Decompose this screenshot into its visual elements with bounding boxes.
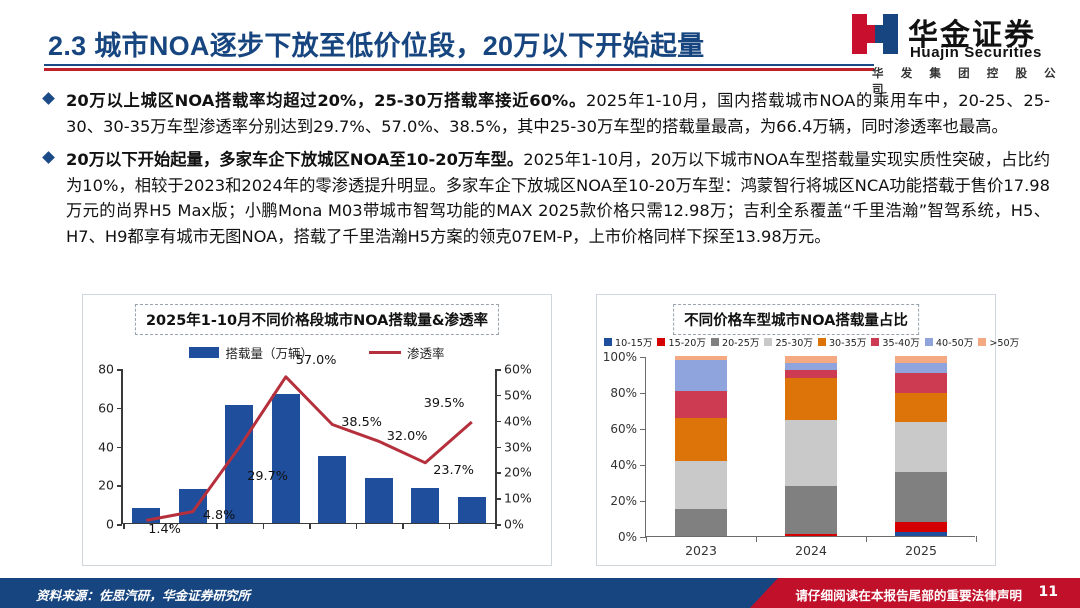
data-label: 23.7% [433,463,474,478]
data-label: 1.4% [148,522,181,537]
stack-segment [785,363,837,370]
y-axis-label: 20 [98,478,114,493]
title-rule-red [44,68,874,71]
legend-swatch-line-icon [369,351,401,355]
stack-segment [785,534,837,536]
y-axis-tick [117,485,122,487]
y-axis-tick-right [496,447,501,449]
y-axis-tick [640,429,646,430]
y-axis-label: 0% [618,530,637,544]
y-axis-label-right: 0% [504,517,524,532]
legend-label: 20-25万 [722,335,759,349]
penetration-rate-line [123,369,495,524]
data-label: 57.0% [296,353,337,368]
stack-segment [895,422,947,472]
x-axis-tick [756,536,757,542]
chart-right-title: 不同价格车型城市NOA搭载量占比 [673,304,919,335]
bullet-list: 20万以上城区NOA搭载率均超过20%，25-30万搭载率接近60%。2025年… [40,88,1050,257]
legend-label: 30-35万 [829,335,866,349]
logo-english-name: Huajin Securities [910,44,1042,61]
stack-segment [675,391,727,418]
legend-swatch-icon [871,338,879,346]
legend-swatch-icon [711,338,719,346]
x-axis-label: 2025 [905,543,937,558]
y-axis-tick [117,408,122,410]
legend-label: 35-40万 [882,335,919,349]
footer-source: 资料来源：佐思汽研，华金证券研究所 [36,585,250,604]
x-axis-tick [866,536,867,542]
y-axis-label: 40% [610,458,637,472]
data-label: 29.7% [247,469,288,484]
slide: 2.3 城市NOA逐步下放至低价位段，20万以下开始起量 华金证券 Huajin… [0,0,1080,608]
y-axis-tick [640,357,646,358]
stacked-bar [785,356,837,536]
legend-swatch-icon [818,338,826,346]
legend-item: 15-20万 [657,335,705,349]
stacked-bar [675,356,727,536]
data-label: 32.0% [387,429,428,444]
stacked-bar [895,356,947,536]
y-axis-label: 60% [610,422,637,436]
legend-swatch-icon [925,338,933,346]
data-label: 38.5% [341,415,382,430]
legend-label: 25-30万 [775,335,812,349]
legend-swatch-icon [764,338,772,346]
stack-segment [675,509,727,536]
y-axis-tick [640,393,646,394]
data-label: 4.8% [203,508,236,523]
x-axis-label: 2024 [795,543,827,558]
y-axis-label-right: 20% [504,465,532,480]
legend-item: 25-30万 [764,335,812,349]
stack-segment [895,373,947,393]
y-axis-tick-right [496,472,501,474]
stack-segment [895,522,947,532]
y-axis-label-right: 10% [504,491,532,506]
chart-left-plot-area: 0204060800%10%20%30%40%50%60%10-15万15-20… [123,369,495,524]
x-axis-tick [976,536,977,542]
y-axis-tick-right [496,498,501,500]
footer-legal-note: 请仔细阅读在本报告尾部的重要法律声明 [795,585,1022,604]
y-axis-tick [117,447,122,449]
y-axis-label: 20% [610,494,637,508]
x-axis-tick [495,523,497,529]
y-axis-tick [117,524,122,526]
y-axis-label: 80 [98,362,114,377]
y-axis-label: 60 [98,400,114,415]
stack-segment [785,370,837,378]
y-axis-label: 0 [106,517,114,532]
stack-segment [675,360,727,392]
legend-item: 40-50万 [925,335,973,349]
slide-header: 2.3 城市NOA逐步下放至低价位段，20万以下开始起量 华金证券 Huajin… [0,0,1080,86]
stack-segment [895,393,947,423]
x-axis-tick [646,536,647,542]
x-axis-label: 2023 [685,543,717,558]
legend-swatch-icon [604,338,612,346]
y-axis-label: 80% [610,386,637,400]
stack-segment [785,356,837,363]
y-axis-tick-right [496,369,501,371]
bullet-1-lead: 20万以上城区NOA搭载率均超过20%，25-30万搭载率接近60%。 [66,91,586,110]
stack-segment [785,486,837,534]
y-axis-tick [640,501,646,502]
chart-right-legend: 10-15万15-20万20-25万25-30万30-35万35-40万40-5… [604,335,990,349]
legend-item: 30-35万 [818,335,866,349]
y-axis-label: 40 [98,439,114,454]
y-axis-label-right: 40% [504,413,532,428]
y-axis-label-right: 30% [504,439,532,454]
legend-item-line: 渗透率 [369,343,445,362]
legend-item: 10-15万 [604,335,652,349]
y-axis-label: 100% [603,350,637,364]
bullet-item-2: 20万以下开始起量，多家车企下放城区NOA至10-20万车型。2025年1-10… [40,147,1050,249]
y-axis-tick [640,465,646,466]
bullet-item-1: 20万以上城区NOA搭载率均超过20%，25-30万搭载率接近60%。2025年… [40,88,1050,139]
slide-footer: 资料来源：佐思汽研，华金证券研究所 请仔细阅读在本报告尾部的重要法律声明 11 [0,578,1080,608]
stack-segment [675,461,727,509]
page-title: 2.3 城市NOA逐步下放至低价位段，20万以下开始起量 [48,24,704,63]
bullet-2-lead: 20万以下开始起量，多家车企下放城区NOA至10-20万车型。 [66,150,523,169]
data-label: 39.5% [424,396,465,411]
legend-item-bars: 搭载量（万辆） [189,343,313,362]
y-axis-tick-right [496,524,501,526]
huajin-logo-mark-icon [852,14,898,54]
chart-left-title: 2025年1-10月不同价格段城市NOA搭载量&渗透率 [135,304,499,335]
stack-segment [675,418,727,461]
legend-item: >50万 [978,335,1019,349]
legend-swatch-icon [657,338,665,346]
y-axis-label-right: 60% [504,362,532,377]
y-axis-tick-right [496,421,501,423]
chart-panel-left: 2025年1-10月不同价格段城市NOA搭载量&渗透率 搭载量（万辆） 渗透率 … [82,294,552,566]
title-rule-blue [44,64,874,66]
y-axis-label-right: 50% [504,387,532,402]
diamond-bullet-icon [42,92,55,105]
chart-right-plot-area: 0%20%40%60%80%100%202320242025 [645,357,975,537]
page-number: 11 [1039,584,1058,600]
stack-segment [895,363,947,373]
stack-segment [785,420,837,486]
y-axis-tick-right [496,395,501,397]
stack-segment [895,472,947,522]
legend-label: 40-50万 [936,335,973,349]
chart-panel-right: 不同价格车型城市NOA搭载量占比 10-15万15-20万20-25万25-30… [596,294,996,566]
legend-label: 15-20万 [668,335,705,349]
legend-swatch-bar-icon [189,347,219,358]
stack-segment [785,378,837,420]
y-axis-tick [117,369,122,371]
legend-label: >50万 [989,335,1019,349]
legend-label-line: 渗透率 [407,343,445,362]
legend-item: 35-40万 [871,335,919,349]
diamond-bullet-icon [42,151,55,164]
stack-segment [895,356,947,363]
legend-item: 20-25万 [711,335,759,349]
legend-swatch-icon [978,338,986,346]
legend-label: 10-15万 [615,335,652,349]
stack-segment [895,532,947,536]
company-logo: 华金证券 Huajin Securities 华 发 集 团 控 股 公 司 [852,10,1064,82]
